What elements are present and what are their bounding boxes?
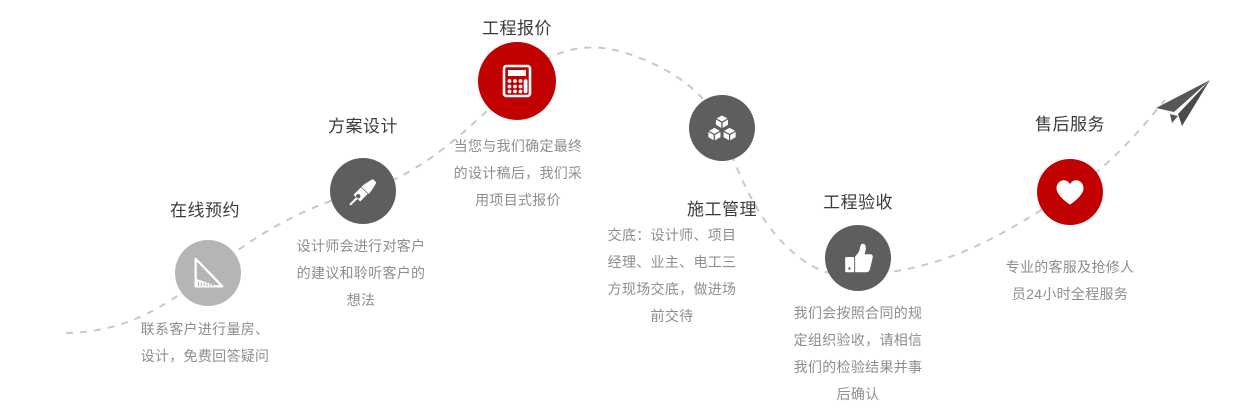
step-1-badge[interactable] (175, 240, 241, 306)
step-6-badge[interactable] (1037, 159, 1103, 225)
step-4-title: 施工管理 (662, 195, 782, 220)
step-3-badge[interactable] (478, 42, 556, 120)
heart-icon (1052, 174, 1088, 210)
step-1-title: 在线预约 (145, 196, 265, 221)
ruler-triangle-icon (189, 254, 227, 292)
step-6-description: 专业的客服及抢修人员24小时全程服务 (1002, 254, 1138, 308)
step-6-title: 售后服务 (1010, 110, 1130, 135)
step-4-badge[interactable] (689, 95, 755, 161)
step-2-description: 设计师会进行对客户的建议和聆听客户的想法 (296, 233, 426, 314)
step-2-title: 方案设计 (303, 112, 423, 137)
paper-plane-icon (1152, 117, 1214, 134)
step-3-description: 当您与我们确定最终的设计稿后，我们采用项目式报价 (450, 133, 586, 214)
flow-end-marker (1152, 78, 1214, 135)
step-2-badge[interactable] (330, 158, 396, 224)
step-5-title: 工程验收 (798, 188, 918, 213)
process-flow-diagram: 在线预约 联系客户进行量房、设计，免费回答疑问 (0, 0, 1245, 402)
step-1-description: 联系客户进行量房、设计，免费回答疑问 (140, 316, 270, 370)
pen-nib-icon (344, 172, 382, 210)
step-5-badge[interactable] (825, 225, 891, 291)
cubes-icon (703, 109, 741, 147)
calculator-icon (495, 59, 539, 103)
thumbs-up-icon (839, 239, 877, 277)
step-5-description: 我们会按照合同的规定组织验收，请相信我们的检验结果并事后确认 (790, 300, 926, 408)
step-4-description: 交底：设计师、项目经理、业主、电工三方现场交底，做进场前交待 (604, 222, 740, 330)
step-3-title: 工程报价 (457, 14, 577, 39)
